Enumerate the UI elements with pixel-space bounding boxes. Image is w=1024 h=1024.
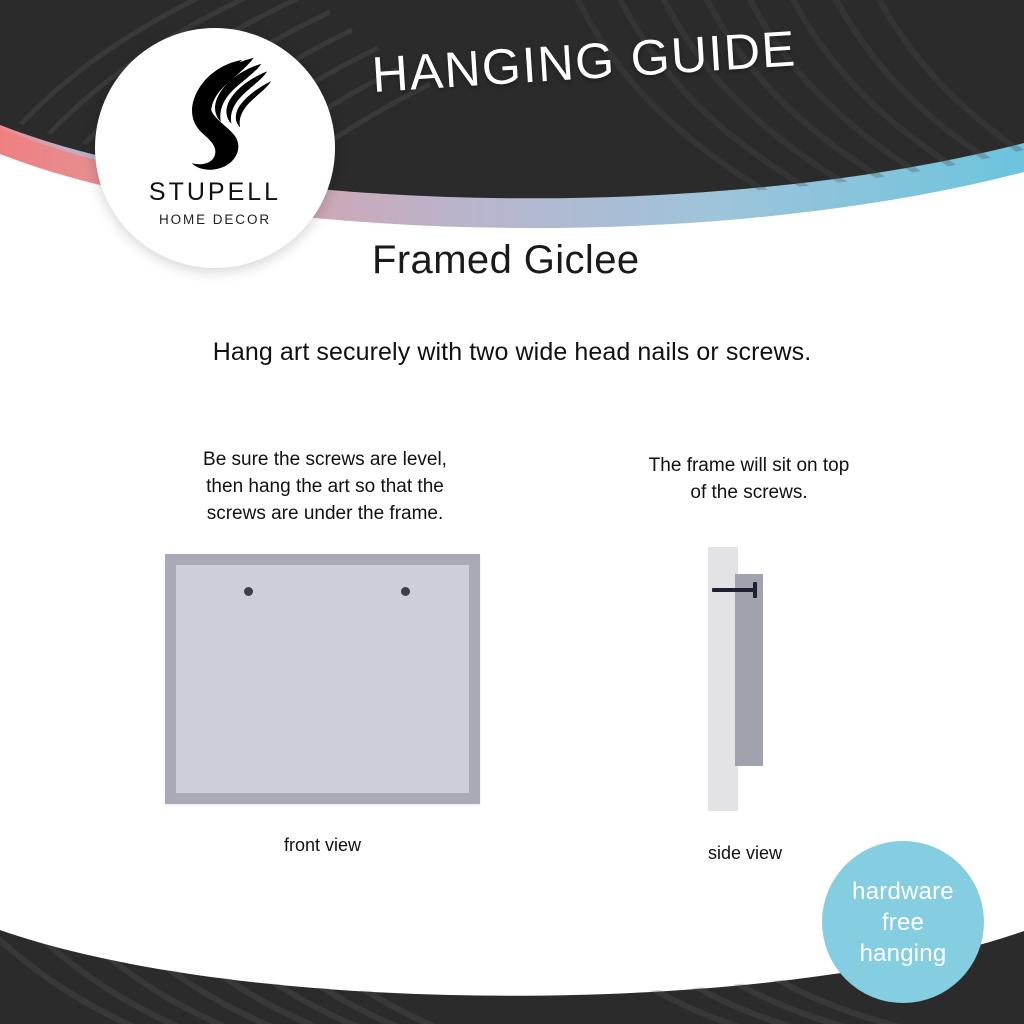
front-view-caption-line1: Be sure the screws are level, [160,446,490,473]
badge-line1: hardware [852,876,954,907]
nail-shaft-icon [712,588,756,592]
side-view-label: side view [660,843,830,864]
side-view-wall [708,547,738,811]
badge-line2: free [882,907,924,938]
brand-logo-badge: STUPELL HOME DECOR [95,28,335,268]
side-view-caption: The frame will sit on top of the screws. [598,452,900,506]
front-view-diagram [165,554,480,804]
product-title: Framed Giclee [372,238,640,283]
nail-head-icon [753,582,757,598]
screw-dot-right [401,587,410,596]
badge-line3: hanging [860,938,947,969]
stupell-swoosh-logo-icon [157,54,273,172]
main-instruction: Hang art securely with two wide head nai… [0,338,1024,367]
brand-name: STUPELL [149,178,281,207]
front-view-caption-line2: then hang the art so that the [160,473,490,500]
side-view-diagram [690,540,800,816]
page-title: HANGING GUIDE [370,13,893,104]
side-view-caption-line2: of the screws. [598,479,900,506]
side-view-frame [735,574,763,766]
brand-tagline: HOME DECOR [159,212,271,227]
footer-texture [0,890,940,1024]
front-view-label: front view [165,835,480,856]
side-view-caption-line1: The frame will sit on top [598,452,900,479]
front-view-caption-line3: screws are under the frame. [160,500,490,527]
front-view-artboard [176,565,469,793]
screw-dot-left [244,587,253,596]
hanging-guide-page: STUPELL HOME DECOR HANGING GUIDE Framed … [0,0,1024,1024]
front-view-caption: Be sure the screws are level, then hang … [160,446,490,527]
hardware-free-hanging-badge: hardware free hanging [822,841,984,1003]
